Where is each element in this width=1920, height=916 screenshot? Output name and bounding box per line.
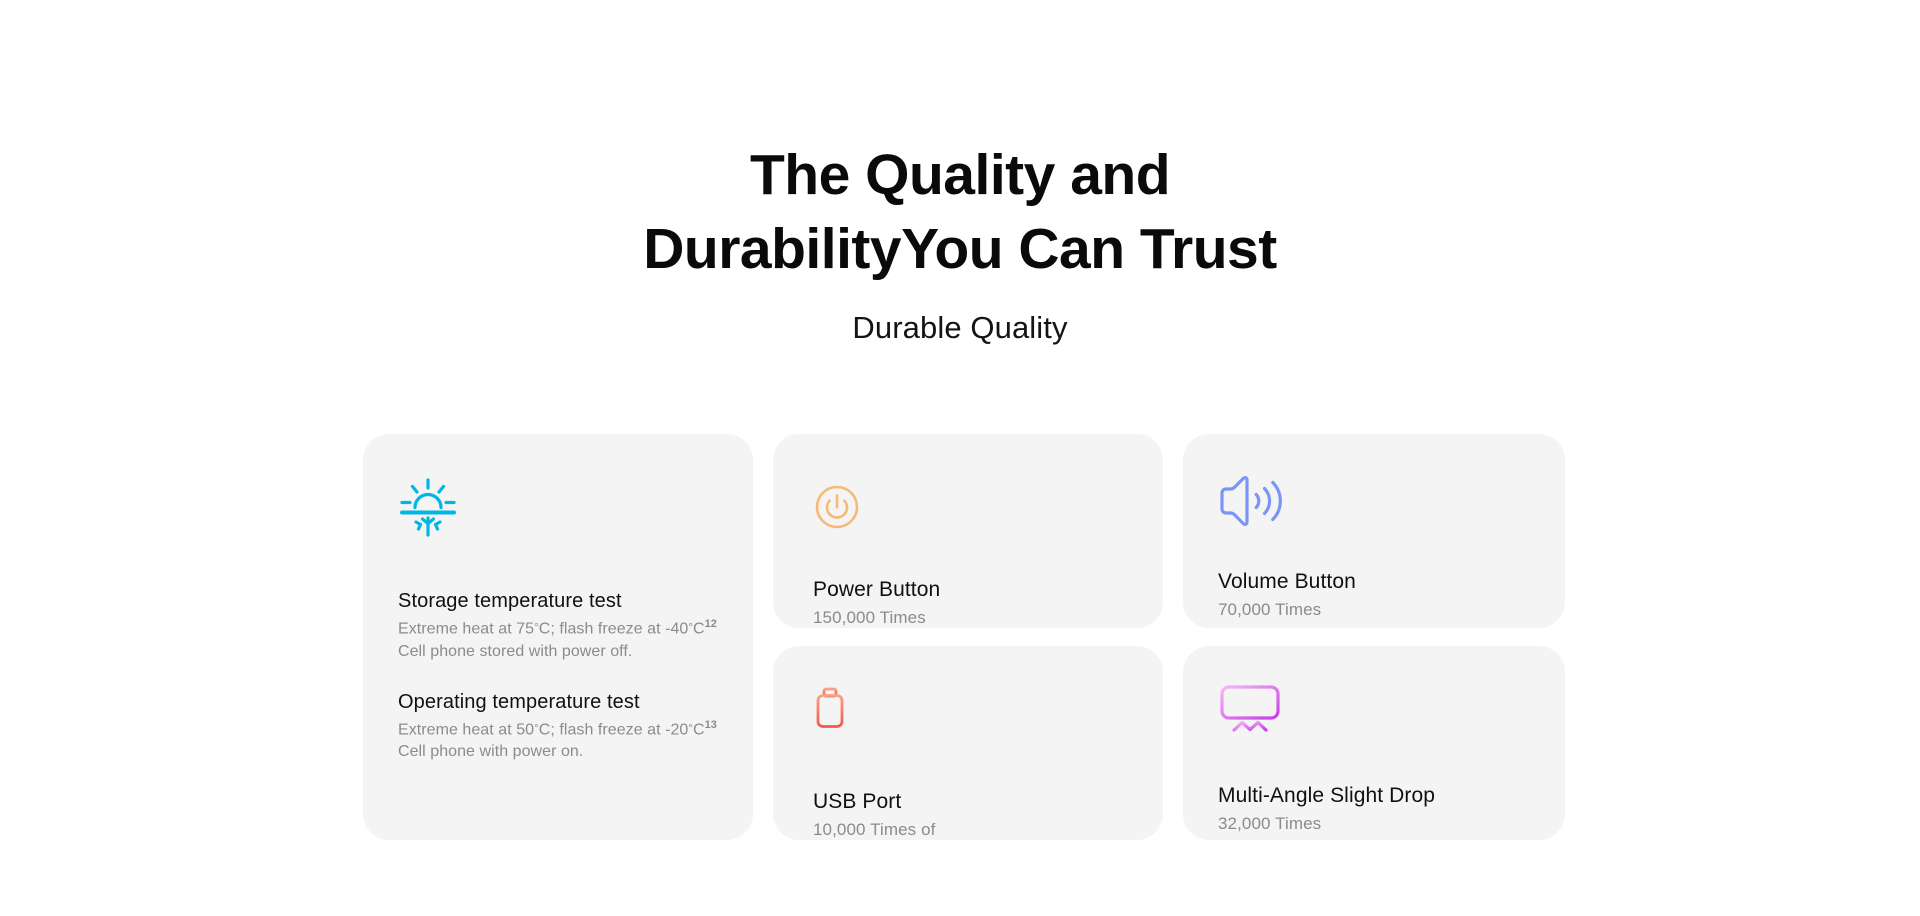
sun-snowflake-icon <box>398 476 725 540</box>
body-text: Extreme heat at 75 <box>398 621 534 638</box>
usb-connector-icon <box>813 686 1139 748</box>
card-subtitle: 70,000 Times <box>1218 598 1541 621</box>
body-text: Cell phone stored with power off. <box>398 643 632 660</box>
card-multi-angle-slight-drop[interactable]: Multi-Angle Slight Drop 32,000 Times <box>1183 646 1565 840</box>
footnote-marker: 13 <box>705 719 717 731</box>
durability-section: The Quality and DurabilityYou Can Trust … <box>0 0 1920 916</box>
card-subtitle: 10,000 Times of Plugging and Unplugging <box>813 818 1139 840</box>
phone-drop-icon <box>1218 682 1541 744</box>
block-title: Operating temperature test <box>398 689 725 716</box>
feature-card-grid: Power Button 150,000 Times Volume Button… <box>363 434 1557 840</box>
card-subtitle: 150,000 Times <box>813 606 1139 628</box>
card-content: Multi-Angle Slight Drop 32,000 Times <box>1218 682 1541 835</box>
card-title: Multi-Angle Slight Drop <box>1218 782 1541 809</box>
body-text: C; flash freeze at -40 <box>539 621 689 638</box>
card-content: Volume Button 70,000 Times <box>1218 470 1541 621</box>
card-content: USB Port 10,000 Times of Plugging and Un… <box>813 686 1139 840</box>
footnote-marker: 12 <box>705 618 717 630</box>
page-subtitle: Durable Quality <box>0 308 1920 348</box>
body-text: Cell phone with power on. <box>398 743 583 760</box>
block-body: Extreme heat at 75°C; flash freeze at -4… <box>398 617 725 663</box>
card-power-button[interactable]: Power Button 150,000 Times <box>773 434 1163 628</box>
power-button-icon <box>813 476 1139 538</box>
card-title: USB Port <box>813 788 1139 815</box>
operating-temperature-block: Operating temperature test Extreme heat … <box>398 689 725 764</box>
card-title: Volume Button <box>1218 568 1541 595</box>
body-text: C; flash freeze at -20 <box>539 721 689 738</box>
block-title: Storage temperature test <box>398 588 725 615</box>
card-title: Power Button <box>813 576 1139 603</box>
page-title: The Quality and DurabilityYou Can Trust <box>0 138 1920 286</box>
volume-speaker-icon <box>1218 470 1541 532</box>
body-text: C <box>693 721 705 738</box>
body-text: Extreme heat at 50 <box>398 721 534 738</box>
block-body: Extreme heat at 50°C; flash freeze at -2… <box>398 718 725 764</box>
body-text: C <box>693 621 705 638</box>
storage-temperature-block: Storage temperature test Extreme heat at… <box>398 588 725 663</box>
card-temperature-tests[interactable]: Storage temperature test Extreme heat at… <box>363 434 753 840</box>
section-header: The Quality and DurabilityYou Can Trust … <box>0 138 1920 348</box>
card-subtitle: 32,000 Times <box>1218 812 1541 835</box>
card-content: Storage temperature test Extreme heat at… <box>398 476 725 763</box>
card-usb-port[interactable]: USB Port 10,000 Times of Plugging and Un… <box>773 646 1163 840</box>
card-content: Power Button 150,000 Times <box>813 476 1139 628</box>
card-volume-button[interactable]: Volume Button 70,000 Times <box>1183 434 1565 628</box>
